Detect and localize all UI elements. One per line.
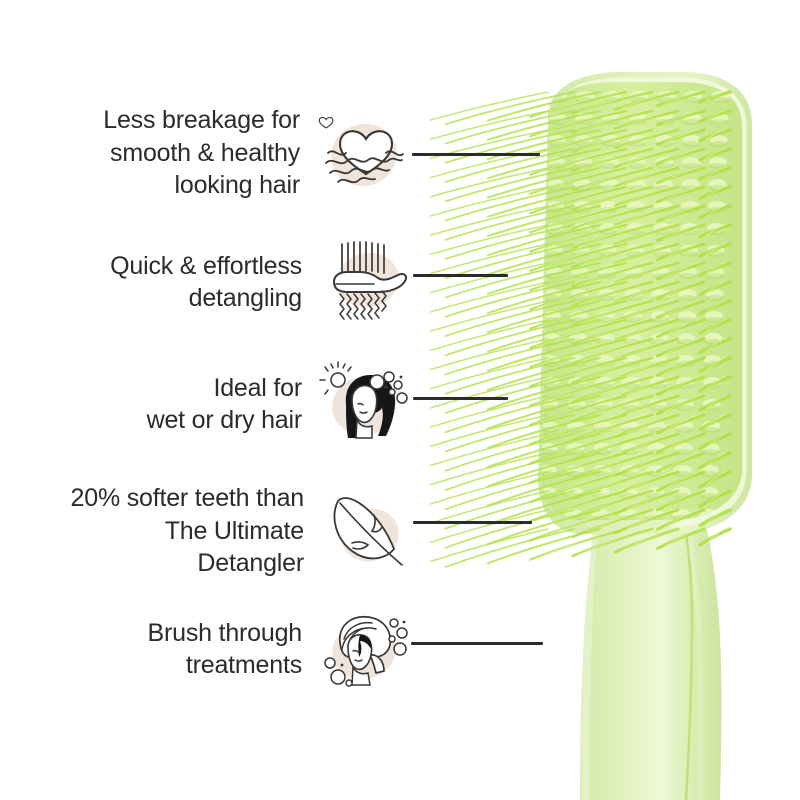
connector-line-2	[413, 274, 508, 277]
connector-line-1	[412, 153, 540, 156]
feature-label: Brush through treatments	[148, 617, 316, 682]
feature-label: Less breakage for smooth & healthy looki…	[103, 104, 314, 202]
feature-quick-detangling: Quick & effortless detangling	[40, 238, 412, 326]
feature-label: 20% softer teeth than The Ultimate Detan…	[71, 482, 318, 580]
connector-line-5	[411, 642, 543, 645]
feature-label: Ideal for wet or dry hair	[147, 372, 316, 437]
feather-icon	[318, 487, 414, 575]
product-infographic: Less breakage for smooth & healthy looki…	[0, 0, 800, 800]
connector-line-3	[413, 397, 508, 400]
brush-hair-icon	[316, 238, 412, 326]
woman-sun-bubbles-icon	[316, 360, 412, 448]
product-image-hairbrush	[430, 0, 800, 800]
feature-label: Quick & effortless detangling	[110, 250, 316, 315]
woman-towel-bubbles-icon	[316, 605, 412, 693]
feature-less-breakage: Less breakage for smooth & healthy looki…	[40, 104, 410, 202]
heart-waves-icon	[314, 109, 410, 197]
feature-softer-teeth: 20% softer teeth than The Ultimate Detan…	[28, 482, 414, 580]
feature-brush-treatments: Brush through treatments	[40, 605, 412, 693]
feature-wet-or-dry: Ideal for wet or dry hair	[40, 360, 412, 448]
connector-line-4	[413, 521, 532, 524]
